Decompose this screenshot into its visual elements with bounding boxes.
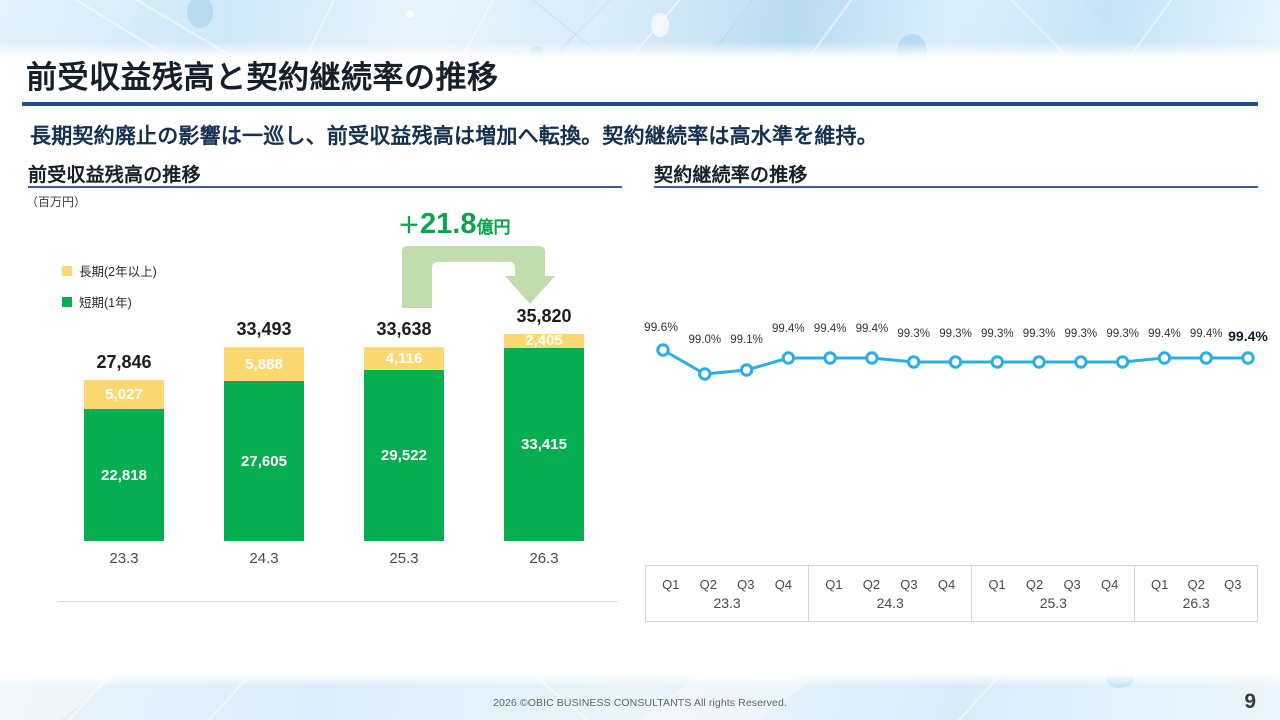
quarter-cell: Q2 [863, 577, 880, 592]
bar-column: 27,8465,02722,81823.3 [84, 380, 164, 541]
line-point-label: 99.0% [688, 334, 721, 346]
quarter-cell: Q1 [988, 577, 1005, 592]
legend-item-short: 短期(1年) [62, 292, 157, 311]
slide: 前受収益残高と契約継続率の推移 長期契約廃止の影響は一巡し、前受収益残高は増加へ… [0, 0, 1280, 720]
quarter-axis-table: Q1Q2Q3Q423.3Q1Q2Q3Q424.3Q1Q2Q3Q425.3Q1Q2… [645, 565, 1258, 622]
bar-total-label: 27,846 [64, 352, 184, 373]
quarter-row: Q1Q2Q3 [1135, 577, 1257, 592]
footer-fade [0, 674, 1280, 686]
line-data-point [1201, 353, 1211, 363]
quarter-cell: Q3 [737, 577, 754, 592]
bar-x-label: 26.3 [484, 550, 604, 567]
line-chart: 99.6%99.0%99.1%99.4%99.4%99.4%99.3%99.3%… [640, 320, 1280, 390]
line-data-point [909, 357, 919, 367]
bar-column: 33,6384,11629,52225.3 [364, 347, 444, 541]
year-cell: 26.3 [1135, 595, 1257, 611]
bar-column: 33,4935,88827,60524.3 [224, 347, 304, 541]
bar-segment-short: 29,522 [364, 370, 444, 541]
legend-item-long: 長期(2年以上) [62, 261, 157, 280]
bar-segment-short: 33,415 [504, 348, 584, 541]
bar-segment-long: 4,116 [364, 347, 444, 371]
bar-total-label: 33,638 [344, 319, 464, 340]
line-point-label: 99.1% [730, 334, 763, 346]
growth-arrow-icon [400, 246, 555, 308]
line-data-point [1243, 353, 1253, 363]
legend-label: 短期(1年) [79, 292, 132, 311]
bar-chart-baseline [58, 601, 618, 602]
year-cell: 24.3 [809, 595, 971, 611]
quarter-cell: Q3 [1063, 577, 1080, 592]
bar-segment-long: 2,405 [504, 334, 584, 348]
line-point-label: 99.4% [1228, 328, 1268, 344]
bar-segment-short: 22,818 [84, 409, 164, 541]
line-data-point [658, 345, 668, 355]
line-point-label: 99.4% [814, 323, 847, 335]
quarter-row: Q1Q2Q3Q4 [646, 577, 808, 592]
line-data-point [1159, 353, 1169, 363]
line-data-point [1117, 357, 1127, 367]
line-point-label: 99.6% [644, 320, 678, 334]
quarter-cell: Q1 [825, 577, 842, 592]
page-number: 9 [1244, 690, 1256, 714]
line-data-point [700, 369, 710, 379]
quarter-row: Q1Q2Q3Q4 [809, 577, 971, 592]
callout-unit: 億円 [476, 218, 510, 237]
bar-total-label: 35,820 [484, 306, 604, 327]
line-point-label: 99.3% [981, 328, 1014, 340]
bar-x-label: 25.3 [344, 550, 464, 567]
quarter-cell: Q1 [1151, 577, 1168, 592]
line-data-point [783, 353, 793, 363]
quarter-cell: Q4 [938, 577, 955, 592]
growth-callout: ＋21.8億円 [398, 208, 510, 241]
line-data-point [867, 353, 877, 363]
line-point-label: 99.3% [939, 328, 972, 340]
quarter-group: Q1Q2Q3Q424.3 [809, 566, 972, 621]
legend-swatch-icon [62, 297, 72, 307]
line-point-label: 99.3% [1065, 328, 1098, 340]
bar-chart: 長期(2年以上)短期(1年) ＋21.8億円 27,8465,02722,818… [0, 0, 640, 660]
legend-label: 長期(2年以上) [79, 261, 157, 280]
quarter-cell: Q1 [662, 577, 679, 592]
year-cell: 23.3 [646, 595, 808, 611]
quarter-row: Q1Q2Q3Q4 [972, 577, 1134, 592]
bar-segment-short: 27,605 [224, 381, 304, 541]
line-point-label: 99.4% [1190, 328, 1223, 340]
bar-x-label: 23.3 [64, 550, 184, 567]
line-point-label: 99.3% [897, 328, 930, 340]
line-data-point [1076, 357, 1086, 367]
quarter-cell: Q4 [1101, 577, 1118, 592]
bar-x-label: 24.3 [204, 550, 324, 567]
line-point-label: 99.4% [856, 323, 889, 335]
line-data-point [1034, 357, 1044, 367]
line-point-label: 99.4% [1148, 328, 1181, 340]
line-point-label: 99.3% [1023, 328, 1056, 340]
quarter-cell: Q3 [900, 577, 917, 592]
bar-total-label: 33,493 [204, 319, 324, 340]
quarter-cell: Q3 [1224, 577, 1241, 592]
quarter-cell: Q2 [1026, 577, 1043, 592]
line-data-point [825, 353, 835, 363]
line-point-label: 99.4% [772, 323, 805, 335]
line-data-point [950, 357, 960, 367]
callout-plus: ＋ [398, 213, 420, 238]
section-title-retention-rate: 契約継続率の推移 [654, 160, 808, 187]
line-point-label: 99.3% [1106, 328, 1139, 340]
section-rule-right [654, 186, 1258, 188]
quarter-group: Q1Q2Q3Q425.3 [972, 566, 1135, 621]
quarter-group: Q1Q2Q326.3 [1135, 566, 1257, 621]
line-data-point [741, 365, 751, 375]
bar-column: 35,8202,40533,41526.3 [504, 334, 584, 541]
quarter-cell: Q2 [1188, 577, 1205, 592]
callout-value: 21.8 [420, 208, 476, 240]
copyright-text: 2026 ©OBIC BUSINESS CONSULTANTS All righ… [0, 697, 1280, 709]
bar-chart-legend: 長期(2年以上)短期(1年) [62, 261, 157, 323]
bar-segment-long: 5,027 [84, 380, 164, 409]
quarter-group: Q1Q2Q3Q423.3 [646, 566, 809, 621]
quarter-cell: Q2 [700, 577, 717, 592]
line-data-point [992, 357, 1002, 367]
quarter-cell: Q4 [775, 577, 792, 592]
year-cell: 25.3 [972, 595, 1134, 611]
legend-swatch-icon [62, 266, 72, 276]
bar-segment-long: 5,888 [224, 347, 304, 381]
